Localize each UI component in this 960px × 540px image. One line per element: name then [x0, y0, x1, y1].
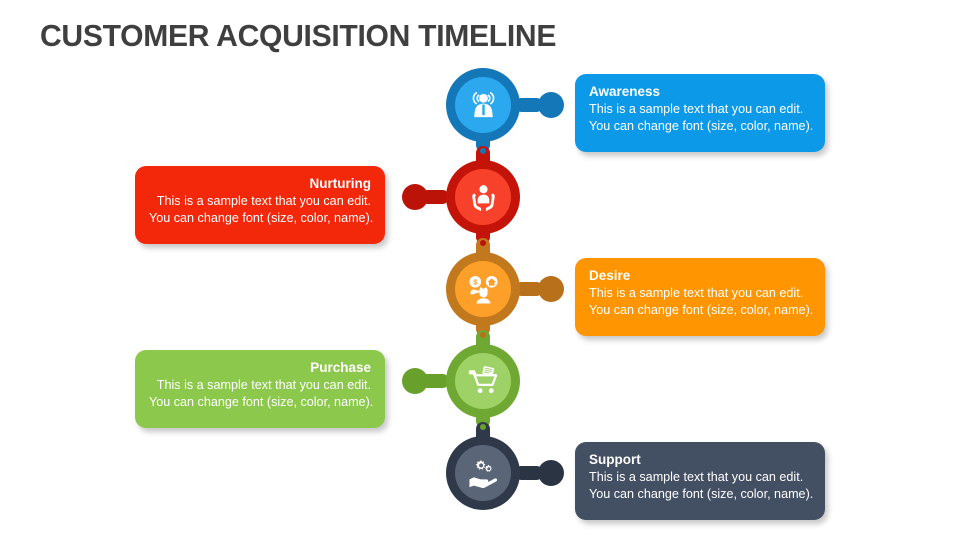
node-inner-circle — [455, 169, 511, 225]
hand-holding-gears-icon — [468, 458, 499, 489]
stage-description-line-2: You can change font (size, color, name). — [589, 118, 811, 135]
connector-pip-up — [480, 424, 486, 430]
stage-label: Purchase — [149, 359, 371, 376]
stage-description-line-2: You can change font (size, color, name). — [149, 210, 371, 227]
connector-nub — [538, 460, 564, 486]
stage-node-desire[interactable]: $ — [446, 252, 520, 326]
connector-pip-up — [480, 332, 486, 338]
stage-callout-desire[interactable]: DesireThis is a sample text that you can… — [575, 258, 825, 336]
stage-label: Awareness — [589, 83, 811, 100]
connector-pip-up — [480, 148, 486, 154]
connector-nub — [402, 184, 428, 210]
connector-nub — [402, 368, 428, 394]
connector-pip-up — [480, 240, 486, 246]
stage-description-line-2: You can change font (size, color, name). — [589, 302, 811, 319]
stage-label: Nurturing — [149, 175, 371, 192]
person-thinking-wishlist-icon: $ — [468, 274, 499, 305]
hands-holding-person-icon — [468, 182, 499, 213]
svg-text:$: $ — [473, 277, 477, 286]
connector-nub — [538, 92, 564, 118]
stage-node-purchase[interactable] — [446, 344, 520, 418]
node-inner-circle — [455, 445, 511, 501]
shopping-cart-icon — [468, 366, 499, 397]
timeline-stage-support: SupportThis is a sample text that you ca… — [0, 436, 960, 528]
stage-description-line-1: This is a sample text that you can edit. — [589, 285, 811, 302]
stage-callout-awareness[interactable]: AwarenessThis is a sample text that you … — [575, 74, 825, 152]
stage-description-line-1: This is a sample text that you can edit. — [149, 193, 371, 210]
stage-description-line-2: You can change font (size, color, name). — [589, 486, 811, 503]
stage-node-support[interactable] — [446, 436, 520, 510]
slide-canvas: CUSTOMER ACQUISITION TIMELINE AwarenessT… — [0, 0, 960, 540]
stage-description-line-1: This is a sample text that you can edit. — [149, 377, 371, 394]
stage-callout-support[interactable]: SupportThis is a sample text that you ca… — [575, 442, 825, 520]
stage-description-line-1: This is a sample text that you can edit. — [589, 101, 811, 118]
stage-callout-purchase[interactable]: PurchaseThis is a sample text that you c… — [135, 350, 385, 428]
stage-callout-nurturing[interactable]: NurturingThis is a sample text that you … — [135, 166, 385, 244]
stage-description-line-2: You can change font (size, color, name). — [149, 394, 371, 411]
person-broadcast-icon — [468, 90, 499, 121]
stage-description-line-1: This is a sample text that you can edit. — [589, 469, 811, 486]
node-inner-circle: $ — [455, 261, 511, 317]
stage-node-nurturing[interactable] — [446, 160, 520, 234]
stage-node-awareness[interactable] — [446, 68, 520, 142]
connector-nub — [538, 276, 564, 302]
stage-label: Support — [589, 451, 811, 468]
page-title: CUSTOMER ACQUISITION TIMELINE — [40, 18, 556, 54]
node-inner-circle — [455, 353, 511, 409]
stage-label: Desire — [589, 267, 811, 284]
node-inner-circle — [455, 77, 511, 133]
